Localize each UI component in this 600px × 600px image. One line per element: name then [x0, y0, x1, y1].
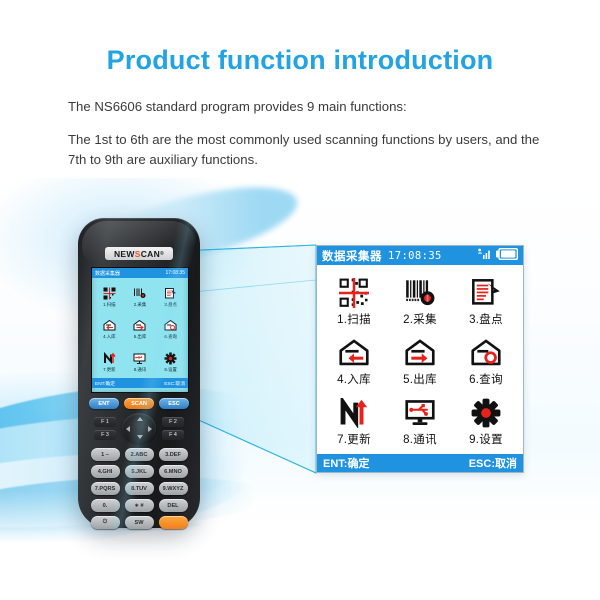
warehouse-query-icon: [471, 336, 501, 368]
warehouse-out-icon: [133, 318, 146, 333]
key-esc[interactable]: ESC: [159, 398, 189, 409]
status-bar-indicators: [478, 247, 518, 265]
enlarged-screen-panel: 数据采集器 17:08:35: [316, 245, 524, 473]
key-sw[interactable]: SW: [125, 516, 154, 529]
device-footer-bar: ENT:确定 ESC:取消: [92, 378, 188, 388]
footer-cancel-hint: ESC:取消: [469, 455, 517, 471]
device-status-title: 数据采集器: [95, 270, 120, 277]
key-orange-action[interactable]: [159, 516, 188, 529]
barcode-icon: [133, 286, 146, 301]
device-menu-label: 6.查询: [164, 334, 176, 340]
keypad-row-3: 7.PQRS 8.TUV 9.WXYZ: [86, 482, 192, 495]
footer-bar: ENT:确定 ESC:取消: [317, 454, 523, 472]
key-ent[interactable]: ENT: [89, 398, 119, 409]
device-menu-grid: 1.扫描 2.采集 3.盘点: [92, 278, 188, 378]
footer-confirm-hint: ENT:确定: [323, 455, 369, 471]
warehouse-in-icon: [339, 336, 369, 368]
menu-item-collect[interactable]: 2.采集: [387, 271, 453, 331]
menu-item-communication[interactable]: 8.通讯: [387, 392, 453, 452]
slide-root: Product function introduction The NS6606…: [0, 0, 600, 600]
function-keys-left: F 1 F 3: [94, 417, 116, 440]
menu-item-label: 3.盘点: [469, 311, 503, 327]
dpad-navigation[interactable]: [122, 413, 156, 443]
device-menu-item[interactable]: 2.采集: [125, 281, 156, 313]
menu-item-label: 6.查询: [469, 371, 503, 387]
device-brand-logo: NEWSCAN®: [105, 247, 173, 260]
menu-item-label: 4.入库: [337, 371, 371, 387]
key-del[interactable]: DEL: [159, 499, 188, 512]
key-3[interactable]: 3.DEF: [159, 448, 188, 461]
signal-bars-icon: [478, 247, 491, 265]
intro-paragraph-1: The NS6606 standard program provides 9 m…: [68, 97, 538, 117]
device-footer-confirm: ENT:确定: [95, 380, 115, 387]
key-7[interactable]: 7.PQRS: [91, 482, 120, 495]
key-4[interactable]: 4.GHI: [91, 465, 120, 478]
menu-item-scan[interactable]: 1.扫描: [321, 271, 387, 331]
function-key-zone: F 1 F 3 F 2 F 4: [86, 413, 192, 443]
device-menu-item[interactable]: 1.扫描: [94, 281, 125, 313]
dpad-down-icon[interactable]: [137, 435, 143, 439]
gear-icon: [471, 396, 501, 428]
function-keys-right: F 2 F 4: [162, 417, 184, 440]
keypad-row-5: ⏻ SW: [86, 516, 192, 529]
key-f4[interactable]: F 4: [162, 430, 184, 440]
key-f3[interactable]: F 3: [94, 430, 116, 440]
device-menu-label: 9.设置: [164, 367, 176, 373]
brand-text: NEWSCAN: [114, 249, 160, 259]
dpad-up-icon[interactable]: [137, 417, 143, 421]
warehouse-out-icon: [405, 336, 435, 368]
keypad-row-4: 0. ∗ # DEL: [86, 499, 192, 512]
menu-item-label: 7.更新: [337, 431, 371, 447]
key-power[interactable]: ⏻: [91, 516, 120, 529]
keypad-row-2: 4.GHI 5.JKL 6.MNO: [86, 465, 192, 478]
device-status-time: 17:08:35: [166, 270, 185, 276]
warehouse-query-icon: [164, 318, 177, 333]
menu-item-label: 9.设置: [469, 431, 503, 447]
key-f2[interactable]: F 2: [162, 417, 184, 427]
device-menu-label: 5.出库: [134, 334, 146, 340]
device-menu-label: 2.采集: [134, 302, 146, 308]
key-star-hash[interactable]: ∗ #: [125, 499, 154, 512]
key-0[interactable]: 0.: [91, 499, 120, 512]
device-screen: 数据采集器 17:08:35 1.扫描 2.采集: [91, 267, 189, 393]
key-scan[interactable]: SCAN: [124, 398, 154, 409]
status-bar-title: 数据采集器: [322, 248, 382, 264]
menu-item-settings[interactable]: 9.设置: [453, 392, 519, 452]
menu-item-label: 8.通讯: [403, 431, 437, 447]
device-menu-item[interactable]: 9.设置: [155, 346, 186, 378]
menu-item-query[interactable]: 6.查询: [453, 331, 519, 391]
dpad-right-icon[interactable]: [148, 426, 152, 432]
device-menu-label: 8.通讯: [134, 367, 146, 373]
key-2[interactable]: 2.ABC: [125, 448, 154, 461]
menu-grid: 1.扫描: [317, 265, 523, 454]
key-6[interactable]: 6.MNO: [159, 465, 188, 478]
qr-scan-icon: [103, 286, 116, 301]
clipboard-edit-icon: [164, 286, 177, 301]
usb-monitor-icon: [133, 351, 146, 366]
key-f1[interactable]: F 1: [94, 417, 116, 427]
barcode-icon: [405, 276, 435, 308]
pda-device: NEWSCAN® 数据采集器 17:08:35 1.扫描 2: [78, 218, 200, 528]
status-bar: 数据采集器 17:08:35: [317, 246, 523, 265]
device-menu-label: 3.盘点: [164, 302, 176, 308]
menu-item-stock-out[interactable]: 5.出库: [387, 331, 453, 391]
gear-icon: [164, 351, 177, 366]
menu-item-inventory[interactable]: 3.盘点: [453, 271, 519, 331]
device-menu-label: 4.入库: [103, 334, 115, 340]
clipboard-edit-icon: [471, 276, 501, 308]
battery-icon: [496, 247, 518, 265]
intro-paragraph-2: The 1st to 6th are the most commonly use…: [68, 130, 548, 170]
usb-monitor-icon: [405, 396, 435, 428]
menu-item-update[interactable]: 7.更新: [321, 392, 387, 452]
device-menu-label: 7.更新: [103, 367, 115, 373]
menu-item-label: 2.采集: [403, 311, 437, 327]
dpad-left-icon[interactable]: [126, 426, 130, 432]
update-n-arrow-icon: [339, 396, 369, 428]
keypad-top-row: ENT SCAN ESC: [86, 398, 192, 409]
device-menu-label: 1.扫描: [103, 302, 115, 308]
menu-item-label: 5.出库: [403, 371, 437, 387]
key-5[interactable]: 5.JKL: [125, 465, 154, 478]
key-8[interactable]: 8.TUV: [125, 482, 154, 495]
keypad-row-1: 1 – 2.ABC 3.DEF: [86, 448, 192, 461]
trademark-symbol: ®: [160, 251, 164, 257]
menu-item-label: 1.扫描: [337, 311, 371, 327]
device-menu-item[interactable]: 3.盘点: [155, 281, 186, 313]
device-menu-item[interactable]: 8.通讯: [125, 346, 156, 378]
device-menu-item[interactable]: 7.更新: [94, 346, 125, 378]
key-1[interactable]: 1 –: [91, 448, 120, 461]
device-keypad: ENT SCAN ESC F 1 F 3 F 2 F 4: [86, 398, 192, 533]
device-menu-item[interactable]: 6.查询: [155, 313, 186, 345]
menu-item-stock-in[interactable]: 4.入库: [321, 331, 387, 391]
update-n-arrow-icon: [103, 351, 116, 366]
warehouse-in-icon: [103, 318, 116, 333]
key-9[interactable]: 9.WXYZ: [159, 482, 188, 495]
device-menu-item[interactable]: 4.入库: [94, 313, 125, 345]
status-bar-time: 17:08:35: [388, 250, 442, 262]
page-title: Product function introduction: [0, 45, 600, 76]
qr-scan-icon: [339, 276, 369, 308]
device-menu-item[interactable]: 5.出库: [125, 313, 156, 345]
device-status-bar: 数据采集器 17:08:35: [92, 268, 188, 278]
device-footer-cancel: ESC:取消: [164, 380, 185, 387]
